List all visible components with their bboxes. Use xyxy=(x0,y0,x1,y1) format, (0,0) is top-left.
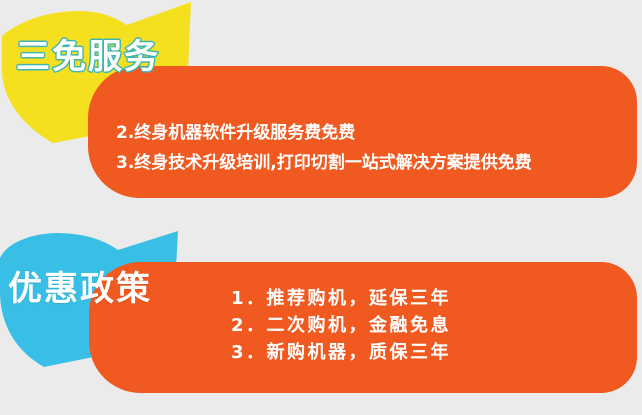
list-item: 3．新购机器，质保三年 xyxy=(231,339,631,366)
top-section-item-list: 2.终身机器软件升级服务费免费 3.终身技术升级培训,打印切割一站式解决方案提供… xyxy=(116,118,636,178)
bottom-section-item-list: 1．推荐购机，延保三年 2．二次购机，金融免息 3．新购机器，质保三年 xyxy=(231,285,631,366)
promo-poster: 三免服务 2.终身机器软件升级服务费免费 3.终身技术升级培训,打印切割一站式解… xyxy=(0,0,642,415)
list-item: 2.终身机器软件升级服务费免费 xyxy=(116,118,636,148)
list-item: 2．二次购机，金融免息 xyxy=(231,312,631,339)
list-item: 1．推荐购机，延保三年 xyxy=(231,285,631,312)
list-item: 3.终身技术升级培训,打印切割一站式解决方案提供免费 xyxy=(116,148,636,178)
section-title-three-free-services: 三免服务 xyxy=(16,40,160,74)
section-title-preferential-policy: 优惠政策 xyxy=(8,272,152,306)
